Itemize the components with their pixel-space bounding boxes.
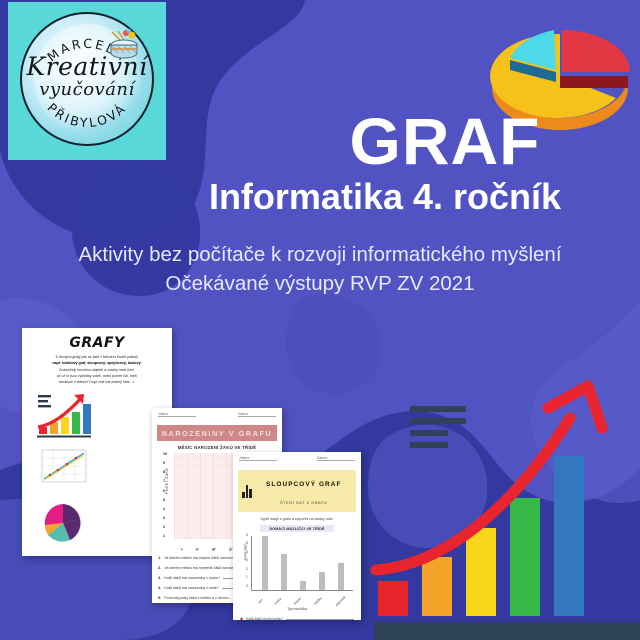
brand-logo: MARCELA PŘIBYLOVÁ Kreativní vyučování xyxy=(8,2,166,160)
drum-icon xyxy=(104,28,144,64)
y-tick: 7 xyxy=(163,480,167,484)
question-text: Kolik žáků má narozeniny v zimě? xyxy=(164,586,218,590)
x-tick: rybička xyxy=(313,596,323,606)
worksheet-sloupcovy: Jméno: Datum: SLOUPCOVÝ GRAF ČTENÍ DAT Z… xyxy=(233,452,361,620)
y-tick: 5 xyxy=(163,499,167,503)
y-tick: 1 xyxy=(163,535,167,539)
chart-y-ticks: 6 5 4 3 2 1 0 xyxy=(246,534,248,588)
chart-caption: DOMÁCÍ MAZLÍČCI VE TŘÍDĚ xyxy=(260,525,334,532)
worksheet-grafy-paragraph: S různými grafy jste se jistě v běžném ž… xyxy=(22,354,172,385)
chart-x-ticks: pes kočka křeček rybička papoušek xyxy=(252,599,353,603)
bullet-icon: ◆ xyxy=(240,617,243,620)
logo-script-line2: vyučování xyxy=(21,81,153,99)
x-tick: II. xyxy=(195,547,200,552)
bar-chart-icon xyxy=(242,485,252,498)
worksheet-sloupcovy-title: SLOUPCOVÝ GRAF xyxy=(266,481,341,488)
worksheet-sloupcovy-questions: ◆Kolik žáků chová kočku? ◆Kolik žáků cho… xyxy=(240,617,354,620)
chart-x-axis-label: Typ mazlíčka xyxy=(233,607,361,611)
y-tick: 8 xyxy=(163,471,167,475)
scatter-line-icon xyxy=(28,443,97,495)
page-title: GRAF xyxy=(250,108,640,174)
x-tick: křeček xyxy=(293,596,302,605)
worksheet-sloupcovy-subtitle: ČTENÍ DAT Z GRAFU xyxy=(280,501,327,505)
field-jmeno: Jméno: xyxy=(158,412,196,417)
y-tick: 2 xyxy=(163,526,167,530)
x-tick: kočka xyxy=(274,597,282,605)
bar-chart-graphic xyxy=(370,378,640,640)
question-number: 2. xyxy=(158,565,161,570)
page-description: Aktivity bez počítače k rozvoji informat… xyxy=(20,240,620,298)
growth-arrow-icon xyxy=(370,378,640,640)
paragraph-line-2: např. koláčový graf, sloupcový, spojnico… xyxy=(52,361,141,365)
poster-canvas: MARCELA PŘIBYLOVÁ Kreativní vyučování xyxy=(0,0,640,640)
y-tick: 1 xyxy=(246,576,248,579)
field-datum: Datum: xyxy=(238,412,276,417)
question-number: 4. xyxy=(158,585,161,590)
page-subtitle: Informatika 4. ročník xyxy=(130,178,640,216)
y-tick: 4 xyxy=(163,508,167,512)
y-tick: 5 xyxy=(246,542,248,545)
y-tick: 6 xyxy=(246,534,248,537)
pie-chart-icon xyxy=(28,497,97,549)
question-text: Ve kterém měsíci má nejvíce žáků narozen… xyxy=(164,556,239,560)
worksheet-sloupcovy-instruction: Vyplň údaje z grafu a odpověz na otázky … xyxy=(233,517,361,521)
y-tick: 10 xyxy=(163,453,167,457)
worksheet-sloupcovy-header: SLOUPCOVÝ GRAF ČTENÍ DAT Z GRAFU xyxy=(238,470,356,512)
question-row: ◆Kolik žáků chová kočku? xyxy=(240,617,354,620)
x-tick: papoušek xyxy=(335,595,347,607)
worksheet-narozeniny-subtitle: MĚSÍC NAROZENÍ ŽÁKŮ VE TŘÍDĚ xyxy=(152,445,282,450)
worksheet-sloupcovy-fields: Jméno: Datum: xyxy=(233,452,361,461)
question-text: Porovnej počty žáků v květnu a v červnu. xyxy=(164,596,229,600)
bar-chart-arrow-icon xyxy=(28,389,97,441)
bar-chart-icon xyxy=(28,551,97,556)
logo-arc-bottom-label: PŘIBYLOVÁ xyxy=(44,100,129,130)
worksheet-grafy-title: GRAFY xyxy=(22,335,172,351)
x-tick: III. xyxy=(211,546,216,551)
chart-bars xyxy=(252,536,353,590)
field-jmeno: Jméno: xyxy=(239,456,277,461)
description-line-2: Očekávané výstupy RVP ZV 2021 xyxy=(20,269,620,298)
question-number: 1. xyxy=(158,555,161,560)
x-tick: pes xyxy=(257,598,263,604)
question-text: Kolik žáků má narozeniny v únoru? xyxy=(164,576,220,580)
worksheet-sloupcovy-chart: Počet žáků 6 5 4 3 2 1 0 pes kočka křeče… xyxy=(251,536,353,591)
worksheet-narozeniny-fields: Jméno: Datum: xyxy=(152,408,282,417)
x-tick: I. xyxy=(179,547,183,551)
field-datum: Datum: xyxy=(317,456,355,461)
question-text: Ve kterém měsíci má nejméně žáků narozen… xyxy=(164,566,242,570)
y-tick: 3 xyxy=(163,517,167,521)
y-tick: 0 xyxy=(246,585,248,588)
worksheet-narozeniny-banner: NAROZENINY V GRAFU xyxy=(157,425,277,441)
y-tick: 4 xyxy=(246,551,248,554)
y-tick: 9 xyxy=(163,462,167,466)
y-tick: 3 xyxy=(246,559,248,562)
chart-base-shelf xyxy=(374,622,640,640)
worksheet-grafy-icons xyxy=(22,385,172,556)
description-line-1: Aktivity bez počítače k rozvoji informat… xyxy=(78,243,561,266)
svg-text:PŘIBYLOVÁ: PŘIBYLOVÁ xyxy=(44,100,129,130)
answer-blank[interactable] xyxy=(286,619,354,620)
question-number: 3. xyxy=(158,575,161,580)
question-text: Kolik žáků chová kočku? xyxy=(246,617,283,620)
y-tick: 6 xyxy=(163,490,167,494)
y-tick: 2 xyxy=(246,568,248,571)
chart-y-ticks: 10 9 8 7 6 5 4 3 2 1 xyxy=(163,453,167,539)
worksheet-grafy: GRAFY S různými grafy jste se jistě v bě… xyxy=(22,328,172,556)
question-number: 5. xyxy=(158,595,161,600)
